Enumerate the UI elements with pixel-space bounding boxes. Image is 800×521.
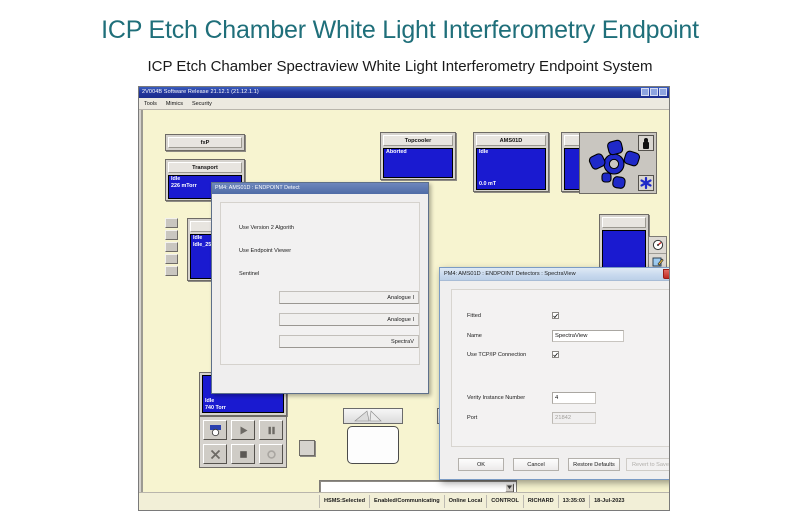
indicator-box-left[interactable]: [299, 440, 315, 456]
load-port-1[interactable]: [339, 408, 407, 466]
control-pad-left[interactable]: [199, 416, 287, 468]
endpoint-detectors-dialog[interactable]: PM4: AMS01D : ENDPOINT Detect Use Versio…: [211, 182, 429, 394]
menu-item-tools[interactable]: Tools: [144, 101, 157, 107]
module-topcooler[interactable]: Topcooler Aborted: [380, 132, 456, 180]
load-button[interactable]: [203, 420, 227, 440]
cancel-button[interactable]: Cancel: [513, 458, 559, 471]
menu-item-mimics[interactable]: Mimics: [166, 101, 183, 107]
label-use-tcpip-connection: Use TCP/IP Connection: [467, 352, 526, 358]
gauge-icon[interactable]: [649, 237, 666, 254]
module-ams01d-header[interactable]: AMS01D: [476, 135, 546, 146]
spectraview-dialog-body: Fitted Name SpectraView Use TCP/IP Conne…: [440, 281, 670, 480]
application-window: 2V004B Software Release 21.12.1 (21.12.1…: [138, 86, 670, 511]
app-menubar[interactable]: Tools Mimics Security: [139, 98, 669, 110]
recipe-combo[interactable]: [319, 480, 517, 492]
restore-defaults-button[interactable]: Restore Defaults: [568, 458, 620, 471]
spectraview-groupbox: Fitted Name SpectraView Use TCP/IP Conne…: [451, 289, 670, 447]
module-ams01d-value: 0.0 mT: [477, 181, 496, 188]
app-title-text: 2V004B Software Release 21.12.1 (21.12.1…: [142, 89, 259, 96]
module-ams01d-screen: Idle 0.0 mT: [476, 148, 546, 190]
status-date: 18-Jul-2023: [589, 495, 628, 508]
module-transport-header[interactable]: Transport: [168, 162, 242, 173]
module-lower-left-value: 740 Torr: [203, 405, 283, 412]
analogue-input-2-button[interactable]: Analogue I: [279, 313, 419, 326]
revert-to-saved-button: Revert to Saved: [626, 458, 670, 471]
spectraview-dialog[interactable]: PM4: AMS01D : ENDPOINT Detectors : Spect…: [439, 267, 670, 480]
cluster-tool-mimic[interactable]: [579, 132, 657, 194]
slot-item[interactable]: [165, 266, 178, 276]
window-controls[interactable]: [641, 88, 667, 96]
minimize-icon[interactable]: [641, 88, 649, 96]
endpoint-detectors-dialog-body: Use Version 2 Algorith Use Endpoint View…: [212, 194, 428, 394]
close-icon[interactable]: [659, 88, 667, 96]
slot-item[interactable]: [165, 254, 178, 264]
label-verity-instance-number: Verity Instance Number: [467, 395, 525, 401]
module-ams01d[interactable]: AMS01D Idle 0.0 mT: [473, 132, 549, 192]
stop-button[interactable]: [231, 444, 255, 464]
record-button[interactable]: [259, 444, 283, 464]
slot-strip[interactable]: [165, 218, 178, 276]
status-time: 13:35:03: [558, 495, 589, 508]
label-port: Port: [467, 415, 477, 421]
module-topcooler-header[interactable]: Topcooler: [383, 135, 453, 146]
app-titlebar[interactable]: 2V004B Software Release 21.12.1 (21.12.1…: [139, 87, 669, 98]
analogue-input-1-button[interactable]: Analogue I: [279, 291, 419, 304]
spectraview-button[interactable]: SpectraV: [279, 335, 419, 348]
label-sentinel: Sentinel: [239, 271, 259, 277]
close-icon[interactable]: ×: [663, 269, 670, 279]
endpoint-detectors-groupbox: Use Version 2 Algorith Use Endpoint View…: [220, 202, 420, 365]
module-topcooler-screen: Aborted: [383, 148, 453, 178]
lock-icon[interactable]: [638, 135, 654, 151]
ok-button[interactable]: OK: [458, 458, 504, 471]
page-title: ICP Etch Chamber White Light Interferome…: [0, 16, 800, 45]
play-button[interactable]: [231, 420, 255, 440]
load-port-1-cassette[interactable]: [347, 426, 399, 464]
label-use-endpoint-viewer: Use Endpoint Viewer: [239, 248, 291, 254]
pause-button[interactable]: [259, 420, 283, 440]
use-tcpip-connection-checkbox[interactable]: [552, 351, 559, 358]
port-input: 21842: [552, 412, 596, 424]
module-right-lower-header[interactable]: [602, 217, 646, 228]
label-fitted: Fitted: [467, 313, 481, 319]
spectraview-dialog-title: PM4: AMS01D : ENDPOINT Detectors : Spect…: [440, 271, 576, 277]
menu-item-security[interactable]: Security: [192, 101, 212, 107]
module-ams01d-state: Idle: [477, 149, 545, 156]
verity-instance-number-input[interactable]: 4: [552, 392, 596, 404]
module-fxp[interactable]: fxP: [165, 134, 245, 151]
abort-button[interactable]: [203, 444, 227, 464]
wafer-fan-icon: [351, 410, 395, 422]
status-comms: Enabled/Communicating: [369, 495, 444, 508]
slot-item[interactable]: [165, 218, 178, 228]
name-input[interactable]: SpectraView: [552, 330, 624, 342]
maximize-icon[interactable]: [650, 88, 658, 96]
module-topcooler-state: Aborted: [384, 149, 452, 156]
status-bar: HSMS:Selected Enabled/Communicating Onli…: [139, 492, 670, 510]
status-hsms: HSMS:Selected: [319, 495, 369, 508]
spectraview-dialog-titlebar[interactable]: PM4: AMS01D : ENDPOINT Detectors : Spect…: [440, 268, 670, 281]
endpoint-detectors-dialog-title[interactable]: PM4: AMS01D : ENDPOINT Detect: [212, 183, 428, 194]
slot-item[interactable]: [165, 230, 178, 240]
chevron-down-icon[interactable]: [505, 483, 514, 492]
status-mode: Online Local: [444, 495, 487, 508]
slot-item[interactable]: [165, 242, 178, 252]
status-user: RICHARD: [523, 495, 558, 508]
slide-root: ICP Etch Chamber White Light Interferome…: [0, 0, 800, 521]
asterisk-icon[interactable]: [638, 175, 654, 191]
fitted-checkbox[interactable]: [552, 312, 559, 319]
page-subtitle: ICP Etch Chamber Spectraview White Light…: [0, 58, 800, 75]
module-fxp-header[interactable]: fxP: [168, 137, 242, 148]
label-name: Name: [467, 333, 482, 339]
status-control: CONTROL: [486, 495, 523, 508]
label-use-version-2-algorithm: Use Version 2 Algorith: [239, 225, 294, 231]
